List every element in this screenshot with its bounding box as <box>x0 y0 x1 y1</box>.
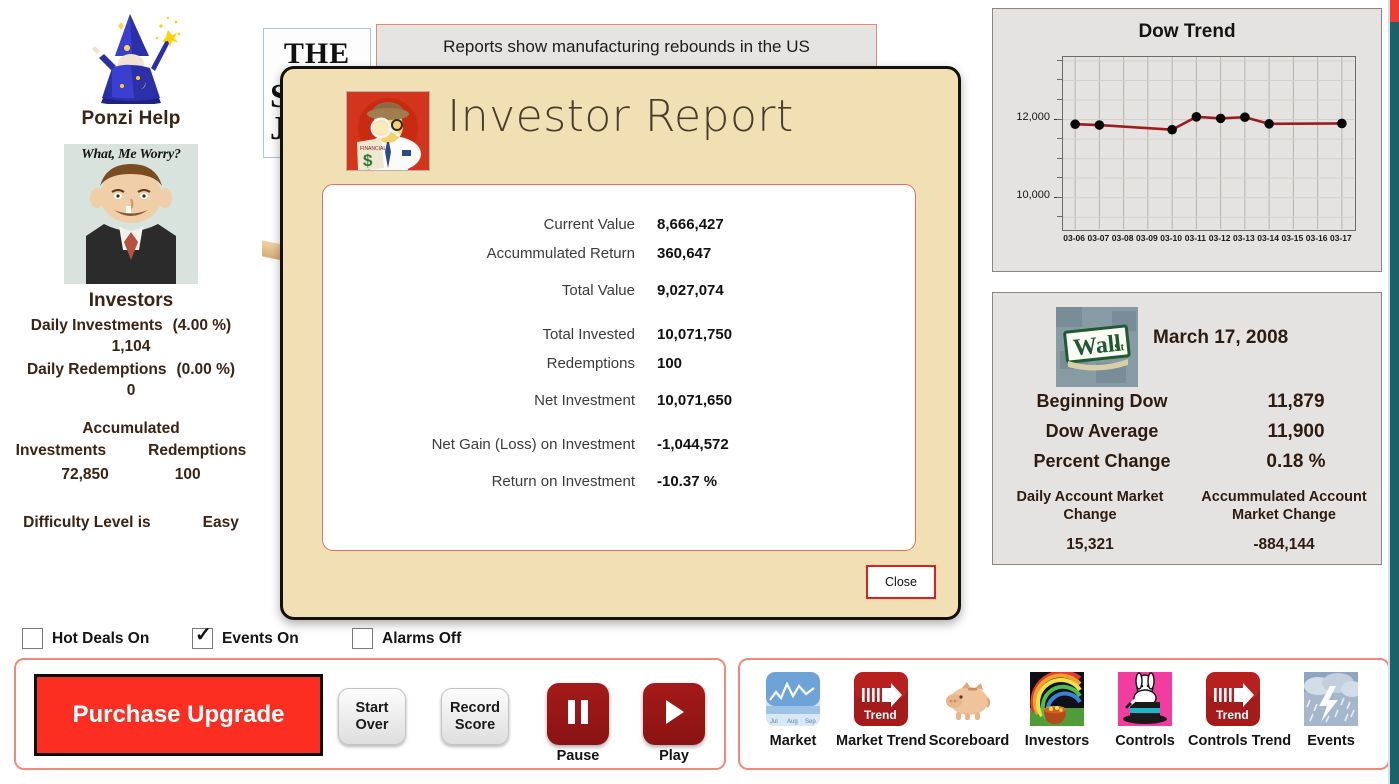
svg-text:St: St <box>1114 341 1125 354</box>
market-summary-panel: Wall St March 17, 2008 Beginning Dow 11,… <box>992 292 1382 565</box>
svg-text:$: $ <box>363 151 373 170</box>
report-row-value: 360,647 <box>657 245 711 262</box>
y-axis-minor-tick <box>1057 138 1062 139</box>
dow-average-value: 11,900 <box>1211 421 1381 443</box>
daily-redemptions-value: 0 <box>0 382 262 400</box>
dow-trend-title: Dow Trend <box>993 9 1381 43</box>
playback-control-bar: Purchase Upgrade Start Over Record Score… <box>14 658 726 770</box>
mad-caption: What, Me Worry? <box>64 147 198 163</box>
start-over-button[interactable]: Start Over <box>338 688 406 745</box>
y-axis-minor-tick <box>1057 99 1062 100</box>
window-edge-strip <box>1390 0 1399 784</box>
purchase-upgrade-label: Purchase Upgrade <box>72 701 284 729</box>
app-root: Ponzi Help What, Me Worry <box>0 0 1399 784</box>
market-chart-icon: Jul Aug Sep <box>766 672 820 726</box>
daily-account-change: Daily Account Market Change 15,321 <box>993 488 1187 554</box>
checkbox-label: Events On <box>222 630 299 648</box>
options-checkbox-row: Hot Deals On✓Events OnAlarms Off <box>0 628 740 656</box>
tool-controls-trend[interactable]: Trend Controls Trend <box>1188 672 1278 749</box>
checkbox-box[interactable] <box>22 628 43 649</box>
tool-events-label: Events <box>1286 733 1376 749</box>
accumulated-title: Accumulated <box>0 420 262 438</box>
tool-market-label: Market <box>748 733 838 749</box>
purchase-upgrade-button[interactable]: Purchase Upgrade <box>34 674 323 756</box>
trend-arrow-icon: Trend <box>854 672 908 726</box>
svg-text:Jul: Jul <box>770 719 778 725</box>
report-row-label: Net Gain (Loss) on Investment <box>323 436 657 453</box>
pause-button[interactable] <box>547 683 609 745</box>
start-over-label-line2: Over <box>355 717 388 733</box>
report-row-value: -1,044,572 <box>657 436 729 453</box>
checkbox-box[interactable] <box>352 628 373 649</box>
y-axis-label: 10,000 <box>994 189 1050 201</box>
market-date: March 17, 2008 <box>1153 327 1288 349</box>
checkbox-alarms-off[interactable]: Alarms Off <box>352 628 461 649</box>
y-axis-minor-tick <box>1057 79 1062 80</box>
window-edge-alert <box>1390 0 1399 22</box>
difficulty-value: Easy <box>203 514 239 532</box>
tool-scoreboard[interactable]: Scoreboard <box>924 672 1014 749</box>
y-axis-minor-tick <box>1057 216 1062 217</box>
report-row-label: Total Value <box>323 282 657 299</box>
record-score-label-line1: Record <box>450 700 500 716</box>
report-panel: Current Value8,666,427Accummulated Retur… <box>322 184 916 551</box>
tool-market-trend-label: Market Trend <box>836 733 926 749</box>
wizard-icon <box>75 8 187 104</box>
checkbox-label: Alarms Off <box>382 630 461 648</box>
news-ticker-text: Reports show manufacturing rebounds in t… <box>443 37 810 57</box>
y-axis-minor-tick <box>1057 197 1062 198</box>
record-score-button[interactable]: Record Score <box>441 688 509 745</box>
daily-investments-pct: (4.00 %) <box>173 317 232 335</box>
report-row-value: 100 <box>657 355 682 372</box>
checkbox-box[interactable]: ✓ <box>192 628 213 649</box>
ponzi-help-label: Ponzi Help <box>0 108 262 130</box>
tool-controls[interactable]: Controls <box>1100 672 1190 749</box>
view-toolbar: Jul Aug Sep Market Trend Market Trend <box>738 658 1390 770</box>
report-row-label: Accummulated Return <box>323 245 657 262</box>
ponzi-help-block[interactable]: Ponzi Help <box>0 0 262 130</box>
checkbox-events-on[interactable]: ✓Events On <box>192 628 299 649</box>
report-row: Redemptions100 <box>323 355 915 384</box>
report-row-value: 10,071,650 <box>657 392 732 409</box>
tool-investors[interactable]: Investors <box>1012 672 1102 749</box>
play-button[interactable] <box>643 683 705 745</box>
close-button[interactable]: Close <box>866 565 936 599</box>
report-row: Return on Investment-10.37 % <box>323 473 915 502</box>
play-label: Play <box>643 748 705 764</box>
wall-street-sign-icon: Wall St <box>1056 307 1138 387</box>
x-axis-label: 03-17 <box>1326 233 1356 243</box>
magic-hat-rabbit-icon <box>1118 672 1172 726</box>
check-icon: ✓ <box>195 625 212 645</box>
tool-market[interactable]: Jul Aug Sep Market <box>748 672 838 749</box>
accumulated-account-change: Accummulated Account Market Change -884,… <box>1187 488 1381 554</box>
tool-scoreboard-label: Scoreboard <box>924 733 1014 749</box>
report-row-label: Net Investment <box>323 392 657 409</box>
report-row-label: Total Invested <box>323 326 657 343</box>
pause-icon <box>565 698 591 731</box>
report-row-value: 9,027,074 <box>657 282 724 299</box>
svg-text:Aug: Aug <box>787 719 798 725</box>
tool-market-trend[interactable]: Trend Market Trend <box>836 672 926 749</box>
difficulty-label: Difficulty Level is <box>23 514 150 532</box>
daily-investments-label: Daily Investments <box>31 317 163 335</box>
report-row-value: -10.37 % <box>657 473 717 490</box>
checkbox-label: Hot Deals On <box>52 630 149 648</box>
beginning-dow-value: 11,879 <box>1211 391 1381 413</box>
y-axis-minor-tick <box>1057 158 1062 159</box>
report-row: Accummulated Return360,647 <box>323 245 915 274</box>
accumulated-account-change-label: Accummulated Account Market Change <box>1187 488 1381 524</box>
beginning-dow-label: Beginning Dow <box>993 391 1211 412</box>
dow-average-label: Dow Average <box>993 421 1211 442</box>
report-row: Net Investment10,071,650 <box>323 392 915 421</box>
daily-investments-row: Daily Investments (4.00 %) <box>0 317 262 335</box>
dow-average-row: Dow Average 11,900 <box>993 421 1381 443</box>
dialog-header: FINANCIAL $ Investor Report <box>283 69 958 174</box>
investors-title: Investors <box>0 290 262 312</box>
market-change-footer: Daily Account Market Change 15,321 Accum… <box>993 488 1381 554</box>
acc-investments-value: 72,850 <box>61 466 108 484</box>
difficulty-row: Difficulty Level is Easy <box>0 514 262 532</box>
daily-redemptions-row: Daily Redemptions (0.00 %) <box>0 361 262 379</box>
percent-change-label: Percent Change <box>993 451 1211 472</box>
play-icon <box>661 698 687 731</box>
report-row-label: Redemptions <box>323 355 657 372</box>
report-row: Total Invested10,071,750 <box>323 326 915 355</box>
report-row-value: 8,666,427 <box>657 216 724 233</box>
accumulated-values: 72,850 100 <box>0 466 262 484</box>
y-axis-minor-tick <box>1057 119 1062 120</box>
report-rows: Current Value8,666,427Accummulated Retur… <box>323 185 915 502</box>
tool-events[interactable]: Events <box>1286 672 1376 749</box>
tool-controls-trend-label: Controls Trend <box>1188 733 1278 749</box>
accumulated-account-change-value: -884,144 <box>1187 536 1381 554</box>
report-row: Current Value8,666,427 <box>323 216 915 245</box>
svg-text:Trend: Trend <box>864 708 897 722</box>
beginning-dow-row: Beginning Dow 11,879 <box>993 391 1381 413</box>
report-row-value: 10,071,750 <box>657 326 732 343</box>
dialog-title: Investor Report <box>283 91 958 142</box>
news-ticker: Reports show manufacturing rebounds in t… <box>376 24 877 69</box>
report-row: Net Gain (Loss) on Investment-1,044,572 <box>323 436 915 465</box>
trend-arrow-icon: Trend <box>1206 672 1260 726</box>
acc-redemptions-header: Redemptions <box>148 442 246 460</box>
y-axis-minor-tick <box>1057 60 1062 61</box>
checkbox-hot-deals-on[interactable]: Hot Deals On <box>22 628 149 649</box>
dow-trend-panel: Dow Trend 10,00012,00003-0603-0703-0803-… <box>992 8 1382 272</box>
left-sidebar: Ponzi Help What, Me Worry <box>0 0 262 624</box>
accumulated-headers: Investments Redemptions <box>0 442 262 460</box>
tool-investors-label: Investors <box>1012 733 1102 749</box>
start-over-label-line1: Start <box>355 700 388 716</box>
investor-report-dialog: FINANCIAL $ Investor Report Current Valu… <box>280 66 961 620</box>
acc-investments-header: Investments <box>16 442 106 460</box>
report-row: Total Value9,027,074 <box>323 282 915 311</box>
y-axis-label: 12,000 <box>994 111 1050 123</box>
report-row-label: Current Value <box>323 216 657 233</box>
tool-controls-label: Controls <box>1100 733 1190 749</box>
svg-text:Sep: Sep <box>805 719 816 725</box>
pot-of-gold-rainbow-icon <box>1030 672 1084 726</box>
daily-account-change-value: 15,321 <box>993 536 1187 554</box>
svg-text:Trend: Trend <box>1216 708 1249 722</box>
percent-change-value: 0.18 % <box>1211 451 1381 473</box>
y-axis-minor-tick <box>1057 177 1062 178</box>
mad-magazine-image: What, Me Worry? <box>64 144 198 284</box>
record-score-label-line2: Score <box>455 717 495 733</box>
daily-redemptions-label: Daily Redemptions <box>27 361 167 379</box>
daily-investments-value: 1,104 <box>0 338 262 356</box>
daily-redemptions-pct: (0.00 %) <box>176 361 235 379</box>
piggy-bank-icon <box>942 672 996 726</box>
daily-account-change-label: Daily Account Market Change <box>993 488 1187 524</box>
acc-redemptions-value: 100 <box>175 466 201 484</box>
report-row-label: Return on Investment <box>323 473 657 490</box>
dow-trend-chart <box>1062 56 1356 231</box>
percent-change-row: Percent Change 0.18 % <box>993 451 1381 473</box>
storm-lightning-icon <box>1304 672 1358 726</box>
pause-label: Pause <box>547 748 609 764</box>
